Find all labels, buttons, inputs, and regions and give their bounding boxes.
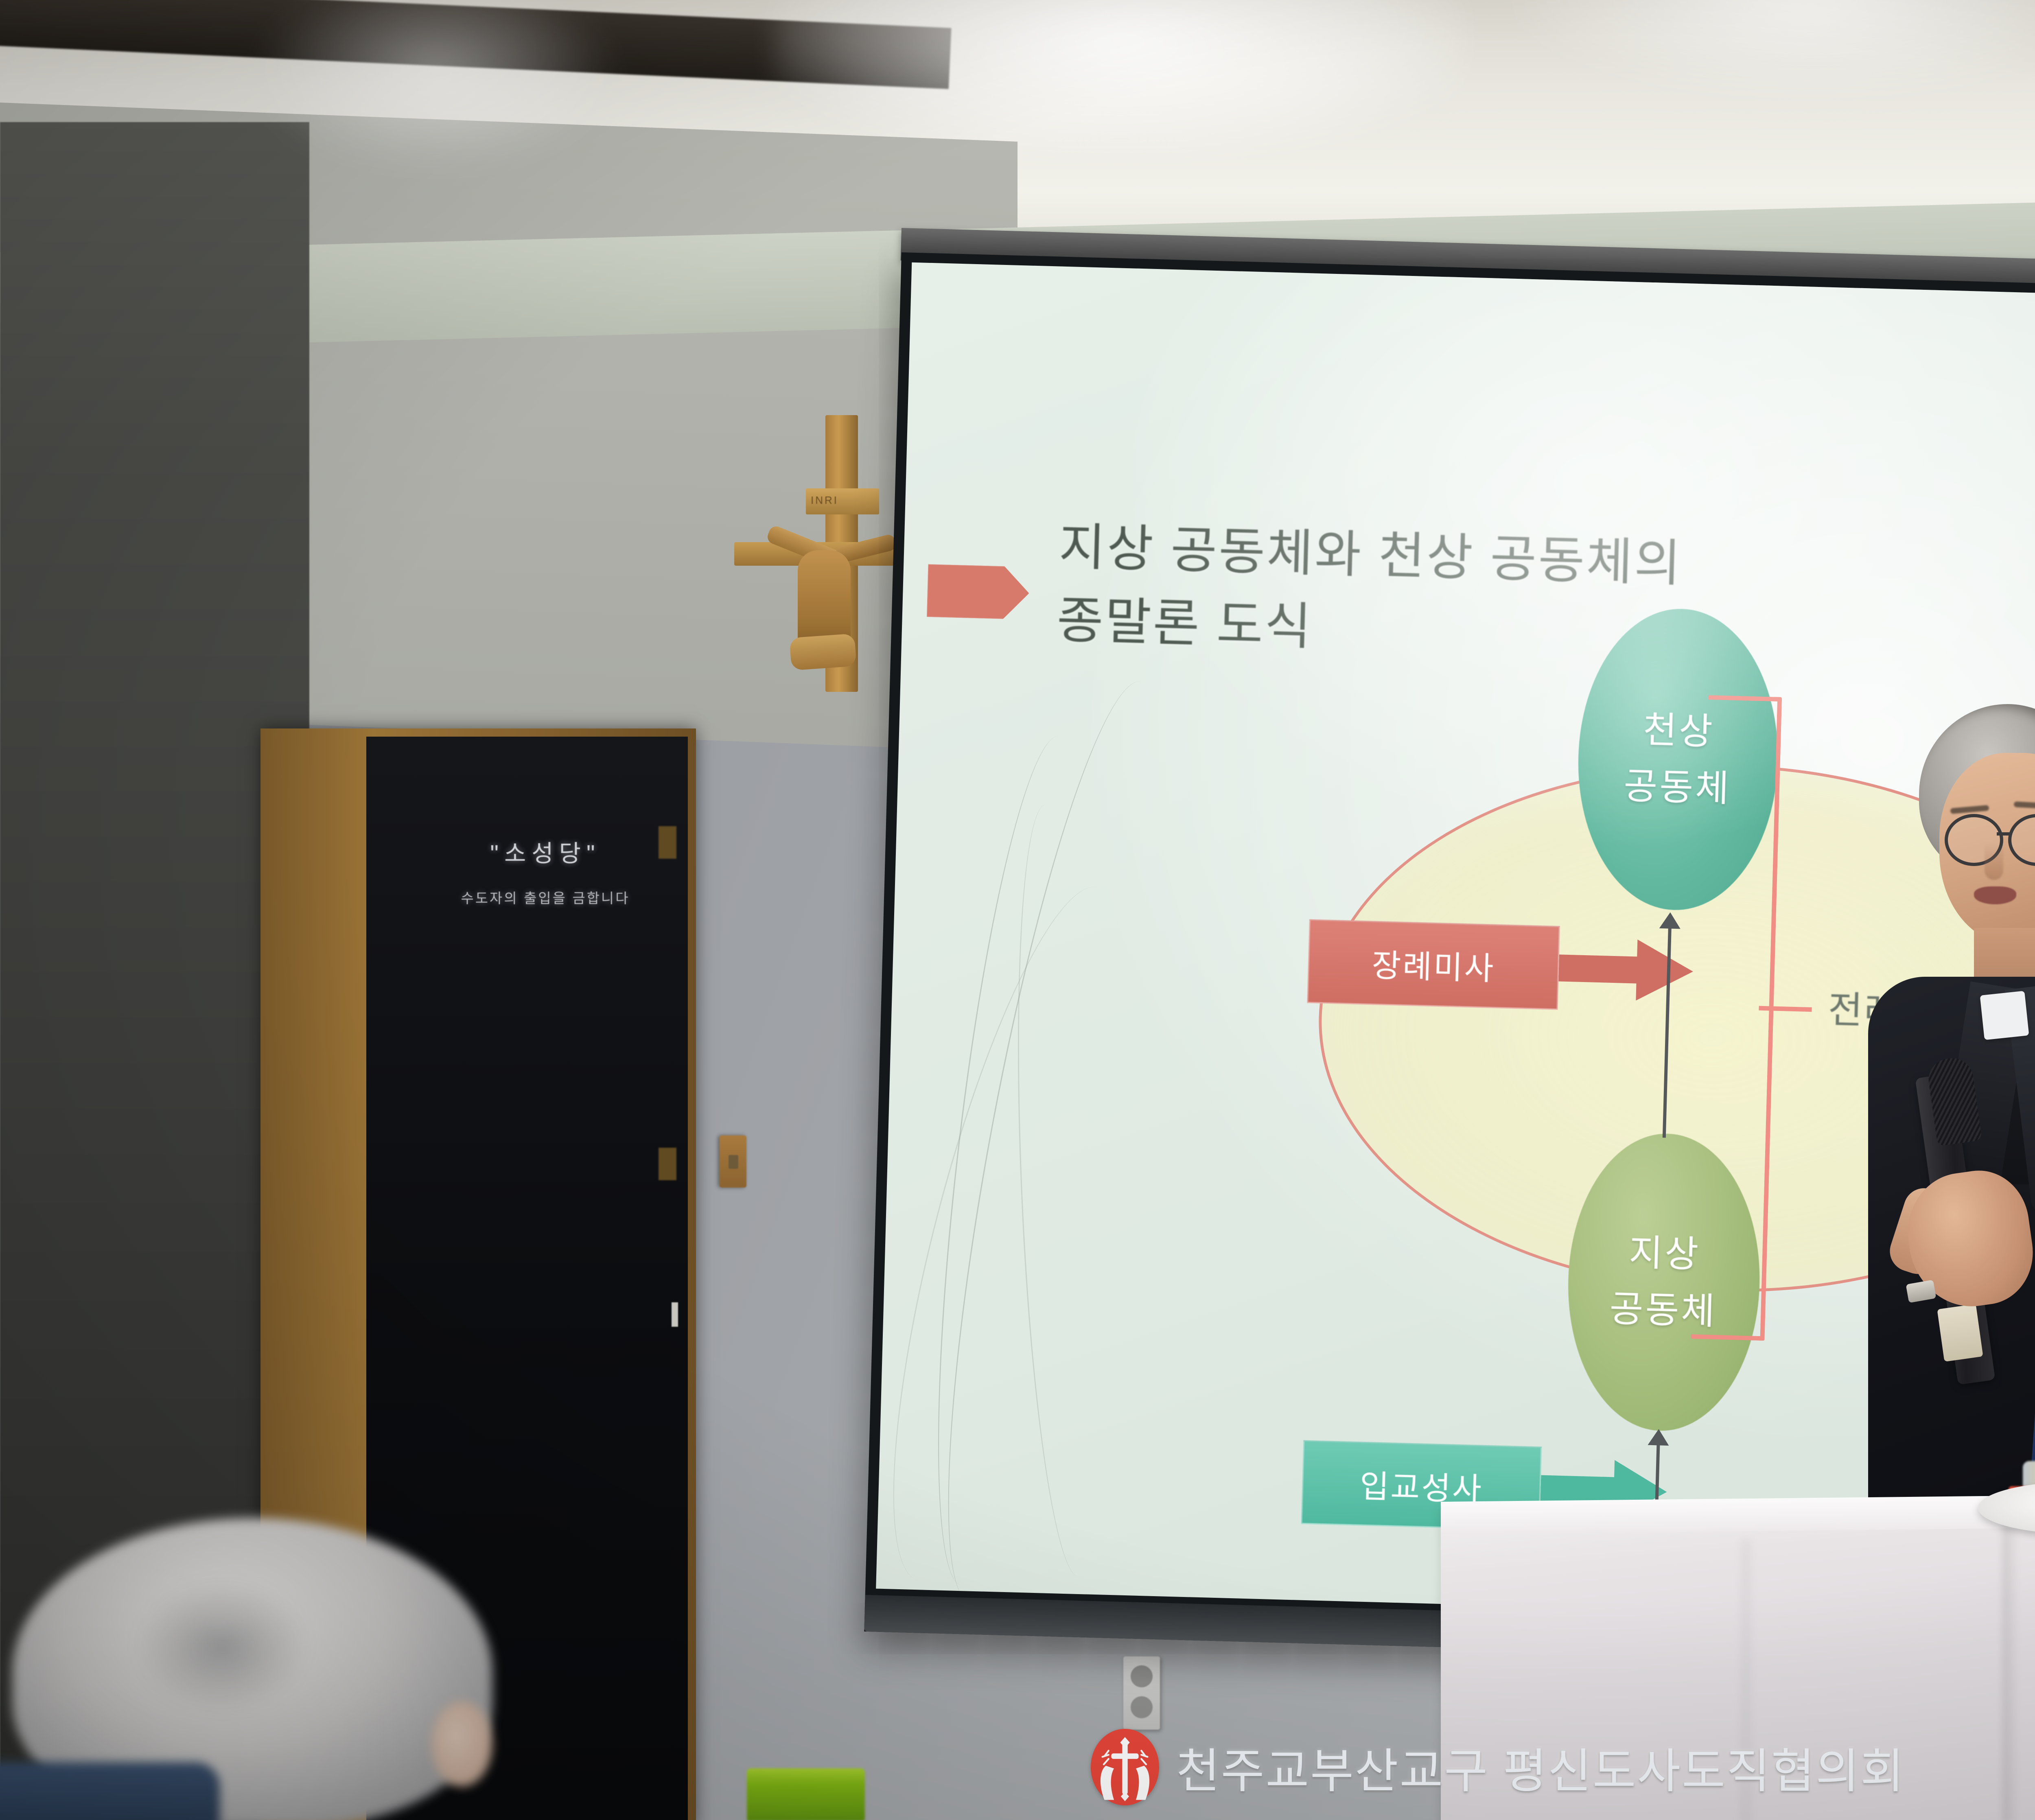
eyeglasses-bridge <box>1997 832 2010 836</box>
roman-collar <box>1980 991 2029 1040</box>
corpus-figure <box>766 534 888 697</box>
audience-shoulder <box>0 1762 220 1820</box>
inri-plaque: INRI <box>806 488 879 514</box>
ceiling-light-glow-secondary <box>1506 0 2035 98</box>
cross-in-hands-logo-icon <box>1091 1729 1159 1805</box>
green-cup[interactable] <box>747 1768 865 1820</box>
door-hinge-bottom <box>659 1148 676 1180</box>
node-earth-line1: 지상 <box>1628 1225 1701 1283</box>
funeral-mass-arrowhead-icon <box>1558 937 1694 1002</box>
ceiling-light-glow <box>773 0 1465 155</box>
tablecloth-fold <box>2002 1522 2019 1820</box>
door-handle[interactable] <box>672 1302 678 1327</box>
slide-title: 지상 공동체와 천상 공동체의 종말론 도식 <box>1056 511 2035 683</box>
audience-ear <box>431 1701 492 1787</box>
microphone-grip-band <box>1937 1304 1983 1362</box>
diagram-box-funeral-mass: 장례미사 <box>1307 921 1694 1013</box>
arrow-right-icon <box>927 564 1030 620</box>
corpus-loincloth <box>789 634 856 671</box>
wall-outlet[interactable] <box>1123 1656 1160 1730</box>
door-sign-subtitle: 수도자의 출입을 금합니다 <box>431 887 659 907</box>
door-hinge-top <box>659 826 676 859</box>
node-heaven-line1: 천상 <box>1642 702 1715 760</box>
chapel-door-sign: "소성당" 수도자의 출입을 금합니다 <box>431 834 659 936</box>
door-sign-title: "소성당" <box>431 834 659 868</box>
light-switch[interactable] <box>720 1135 746 1188</box>
lecture-room-photo: "소성당" 수도자의 출입을 금합니다 INRI 지상 공동체와 천상 공동 <box>0 0 2035 1820</box>
watermark-text: 천주교부산교구 평신도사도직협의회 <box>1176 1733 1905 1801</box>
speaker-mouth <box>1974 886 2016 904</box>
funeral-mass-label: 장례미사 <box>1307 919 1560 1010</box>
inri-text: INRI <box>811 494 838 507</box>
crucifix: INRI <box>729 415 899 708</box>
audience-head-shading <box>134 1579 309 1713</box>
speaker-nose <box>1985 843 2003 880</box>
watermark: 천주교부산교구 평신도사도직협의회 <box>1091 1729 1905 1805</box>
